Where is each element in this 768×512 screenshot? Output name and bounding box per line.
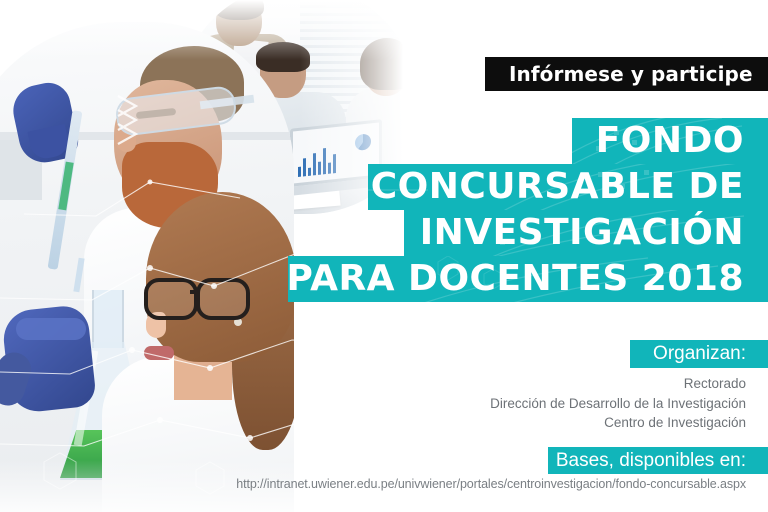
organizer-item: Centro de Investigación <box>326 413 746 433</box>
bases-label: Bases, disponibles en: <box>556 450 768 472</box>
organizers-label: Organizan: <box>653 343 768 365</box>
glove-knuckles <box>16 318 86 340</box>
title-line-4: PARA DOCENTES 2018 <box>288 261 768 297</box>
organizers-list: Rectorado Dirección de Desarrollo de la … <box>326 374 746 433</box>
scientist-lips <box>144 346 174 360</box>
kicker-text: Infórmese y participe <box>485 62 753 86</box>
title-line-1: FONDO <box>596 123 768 159</box>
bases-url[interactable]: http://intranet.uwiener.edu.pe/univwiene… <box>186 477 746 491</box>
title-row-2: CONCURSABLE DE <box>368 164 768 210</box>
poster-canvas: Infórmese y participe FONDO CONCURS <box>0 0 768 512</box>
title-row-4: PARA DOCENTES 2018 <box>288 256 768 302</box>
title-row-3: INVESTIGACIÓN <box>404 210 768 256</box>
kicker-banner: Infórmese y participe <box>485 57 768 91</box>
organizer-item: Rectorado <box>326 374 746 394</box>
bases-label-block: Bases, disponibles en: <box>548 447 768 474</box>
title-line-3: INVESTIGACIÓN <box>420 215 768 251</box>
organizer-item: Dirección de Desarrollo de la Investigac… <box>326 394 746 414</box>
title-stack: FONDO CONCURSABLE DE INVESTIGACIÓN <box>0 118 768 302</box>
title-line-2: CONCURSABLE DE <box>371 169 768 205</box>
title-row-1: FONDO <box>572 118 768 164</box>
organizers-label-block: Organizan: <box>630 340 768 368</box>
